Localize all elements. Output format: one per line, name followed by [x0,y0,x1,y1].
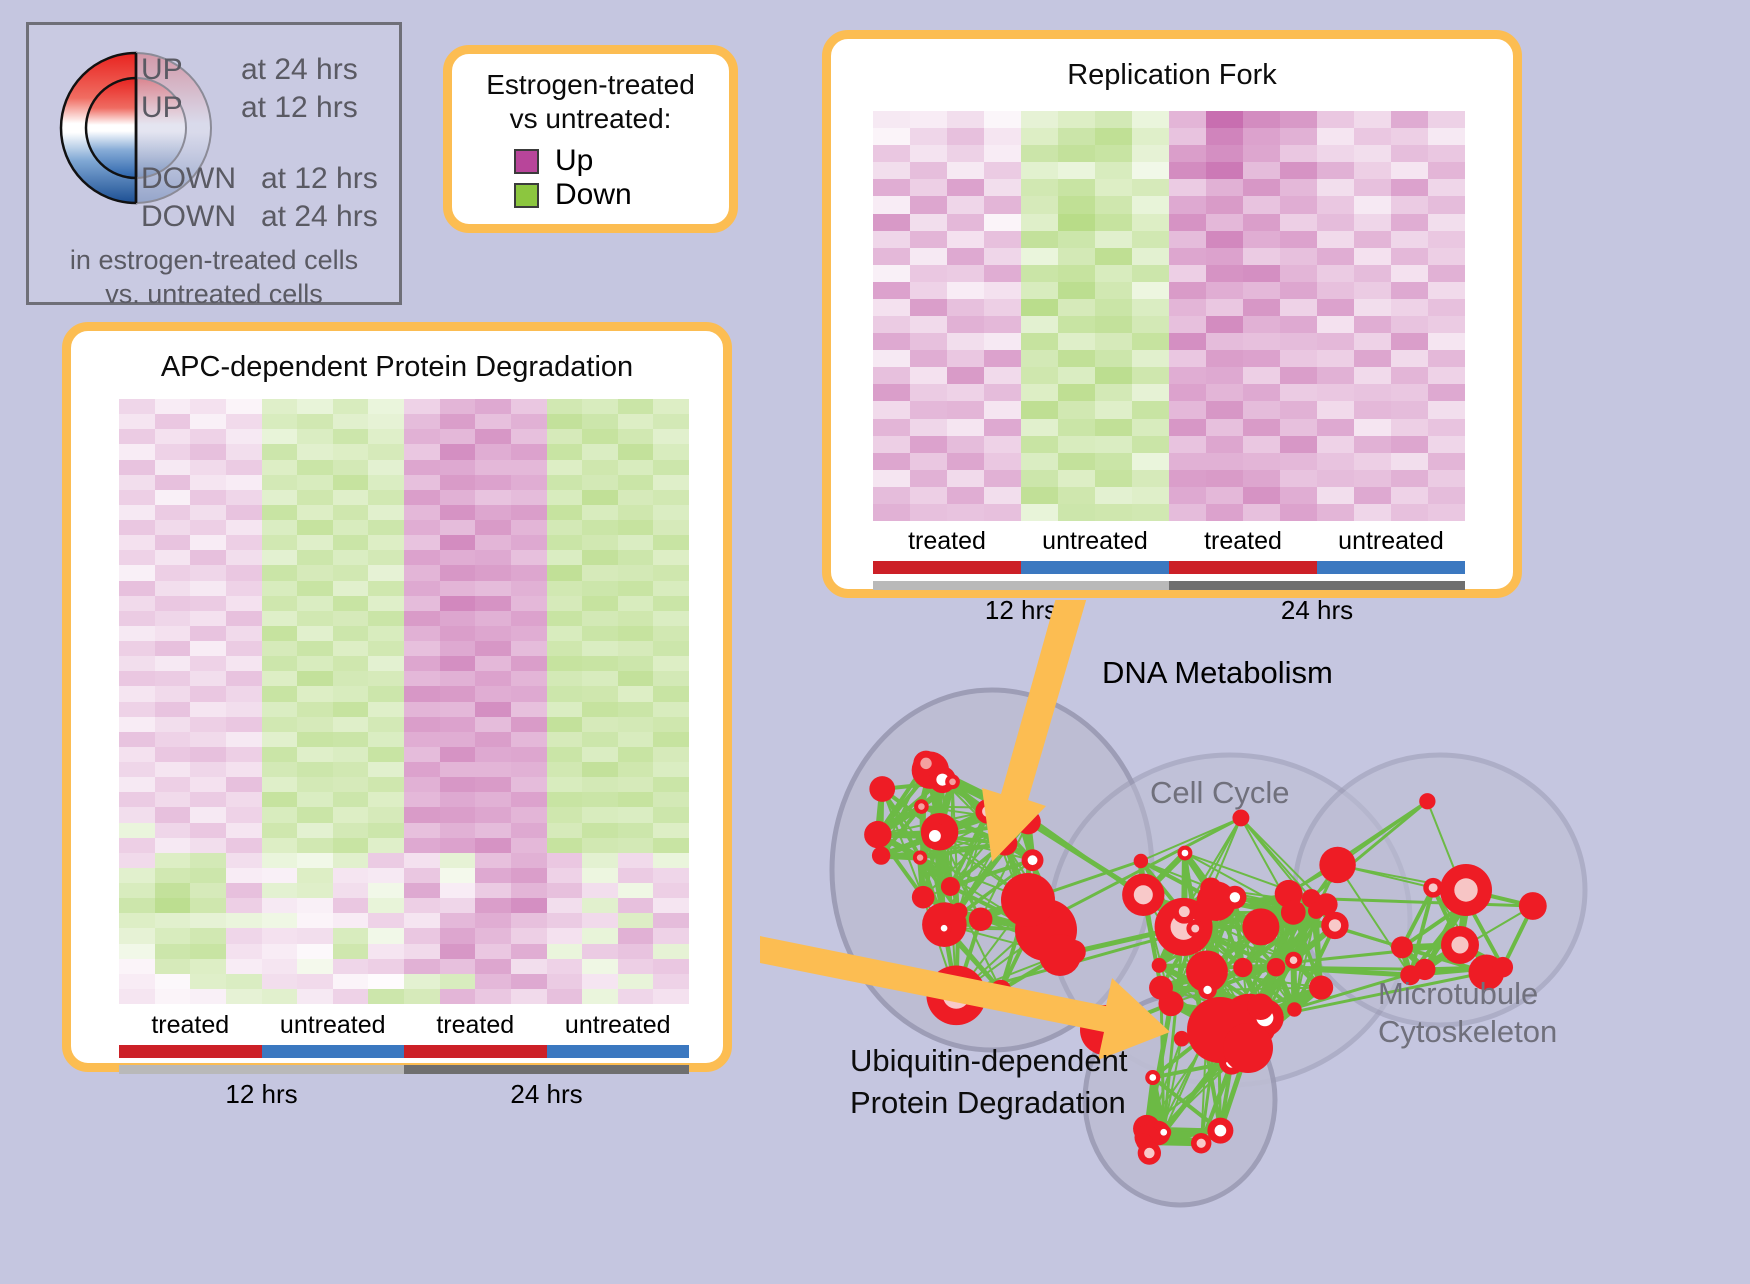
heatmap-cell [475,626,511,641]
replication-fork-heatmap [873,111,1465,521]
heatmap-cell [297,535,333,550]
heatmap-cell [618,883,654,898]
heatmap-cell [1169,350,1206,367]
network-node[interactable] [941,877,960,896]
heatmap-cell [155,535,191,550]
heatmap-cell [440,656,476,671]
network-node[interactable] [922,823,948,849]
heatmap-cell [368,792,404,807]
network-node[interactable] [1198,981,1216,999]
heatmap-cell [262,490,298,505]
network-node[interactable] [1138,1141,1161,1164]
heatmap-cell [511,641,547,656]
heatmap-cell [1391,248,1428,265]
heatmap-cell [333,581,369,596]
heatmap-cell [1243,145,1280,162]
heatmap-cell [873,487,910,504]
heatmap-cell [653,490,689,505]
heatmap-cell [582,641,618,656]
heatmap-cell [1428,145,1465,162]
heatmap-cell [618,807,654,822]
node-inner-core [918,803,925,810]
heatmap-cell [119,974,155,989]
heatmap-cell [155,550,191,565]
heatmap-cell [618,444,654,459]
heatmap-cell [984,299,1021,316]
network-node[interactable] [872,846,890,864]
heatmap-cell [947,316,984,333]
heatmap-cell [511,762,547,777]
network-node[interactable] [1391,936,1413,958]
heatmap-cell [440,777,476,792]
heatmap-cell [582,611,618,626]
heatmap-cell [984,196,1021,213]
heatmap-cell [440,520,476,535]
heatmap-cell [1169,214,1206,231]
heatmap-cell [440,913,476,928]
heatmap-cell [547,520,583,535]
network-node[interactable] [914,799,929,814]
network-node[interactable] [1519,892,1547,920]
heatmap-cell [547,792,583,807]
heatmap-cell [119,550,155,565]
heatmap-cell [618,717,654,732]
heatmap-cell [119,399,155,414]
heatmap-cell [582,777,618,792]
heatmap-cell [297,581,333,596]
heatmap-cell [119,944,155,959]
heatmap-cell [1169,504,1206,521]
heatmap-cell [119,792,155,807]
apc-time-bar [119,1065,689,1074]
heatmap-cell [1132,111,1169,128]
heatmap-cell [262,429,298,444]
heatmap-cell [297,792,333,807]
heatmap-cell [1169,316,1206,333]
node-outer-ring [1242,908,1279,945]
heatmap-cell [440,460,476,475]
replication-fork-treatment-bar [873,561,1465,574]
heatmap-cell [404,974,440,989]
network-node[interactable] [1319,847,1355,883]
network-node[interactable] [1287,1002,1302,1017]
time-bar-segment-0 [873,581,1169,590]
heatmap-cell [653,777,689,792]
heatmap-cell [1354,504,1391,521]
network-node[interactable] [913,850,927,864]
heatmap-cell [226,853,262,868]
heatmap-cell [119,565,155,580]
heatmap-cell [155,596,191,611]
heatmap-cell [262,732,298,747]
heatmap-cell [119,883,155,898]
heatmap-cell [333,596,369,611]
heatmap-cell [297,913,333,928]
ring-legend-footer-line1: in estrogen-treated cells [29,243,399,277]
network-node[interactable] [1149,976,1173,1000]
heatmap-cell [190,414,226,429]
heatmap-cell [297,565,333,580]
heatmap-cell [368,823,404,838]
direction-ring-legend: UP at 24 hrs UP at 12 hrs DOWN at 12 hrs… [26,22,402,305]
network-node[interactable] [1281,900,1306,925]
heatmap-cell [226,762,262,777]
heatmap-cell [440,414,476,429]
network-node[interactable] [1308,903,1324,919]
heatmap-cell [226,399,262,414]
heatmap-cell [226,565,262,580]
heatmap-cell [618,853,654,868]
heatmap-cell [1243,214,1280,231]
heatmap-cell [1132,367,1169,384]
heatmap-cell [440,505,476,520]
network-node[interactable] [1145,1070,1160,1085]
heatmap-cell [155,686,191,701]
heatmap-cell [368,883,404,898]
heatmap-cell [1317,504,1354,521]
heatmap-cell [333,944,369,959]
heatmap-cell [618,414,654,429]
heatmap-cell [653,641,689,656]
heatmap-cell [404,686,440,701]
network-node[interactable] [1022,849,1044,871]
cluster-label-microtubule-cytoskeleton: Microtubule Cytoskeleton [1378,975,1557,1051]
network-node[interactable] [950,903,968,921]
heatmap-cell [1058,231,1095,248]
node-outer-ring [941,877,960,896]
heatmap-cell [190,717,226,732]
heatmap-cell [547,565,583,580]
network-node[interactable] [864,821,891,848]
network-node[interactable] [1267,958,1285,976]
heatmap-cell [155,565,191,580]
heatmap-cell [226,777,262,792]
heatmap-cell [873,419,910,436]
network-node[interactable] [969,907,993,931]
heatmap-cell [190,762,226,777]
heatmap-cell [475,868,511,883]
heatmap-cell [190,520,226,535]
heatmap-cell [910,504,947,521]
heatmap-cell [984,231,1021,248]
heatmap-cell [297,807,333,822]
heatmap-cell [475,550,511,565]
heatmap-cell [1243,333,1280,350]
network-node[interactable] [945,774,960,789]
heatmap-cell [190,460,226,475]
heatmap-cell [1206,128,1243,145]
heatmap-cell [297,732,333,747]
heatmap-cell [947,162,984,179]
network-node[interactable] [1152,958,1167,973]
heatmap-cell [190,868,226,883]
heatmap-cell [1058,179,1095,196]
heatmap-cell [119,702,155,717]
heatmap-cell [511,732,547,747]
heatmap-cell [1280,333,1317,350]
heatmap-cell [984,248,1021,265]
heatmap-cell [368,807,404,822]
heatmap-cell [119,414,155,429]
heatmap-cell [1280,401,1317,418]
heatmap-cell [262,717,298,732]
heatmap-cell [297,444,333,459]
network-node[interactable] [1321,912,1348,939]
heatmap-cell [1058,162,1095,179]
network-node[interactable] [1191,1133,1211,1153]
heatmap-cell [440,444,476,459]
heatmap-cell [119,671,155,686]
heatmap-cell [947,111,984,128]
heatmap-cell [1354,384,1391,401]
heatmap-cell [475,641,511,656]
heatmap-cell [947,453,984,470]
heatmap-cell [155,656,191,671]
heatmap-cell [119,460,155,475]
network-node[interactable] [1309,976,1333,1000]
network-node[interactable] [1200,877,1222,899]
heatmap-cell [440,686,476,701]
heatmap-cell [262,414,298,429]
network-node[interactable] [1001,873,1055,927]
heatmap-cell [226,747,262,762]
heatmap-cell [155,823,191,838]
heatmap-cell [984,162,1021,179]
heatmap-cell [1317,248,1354,265]
heatmap-cell [1280,384,1317,401]
heatmap-cell [1243,111,1280,128]
heatmap-cell [910,384,947,401]
network-node[interactable] [1232,809,1249,826]
heatmap-cell [190,792,226,807]
heatmap-cell [1206,316,1243,333]
heatmap-cell [333,460,369,475]
network-node[interactable] [1233,958,1252,977]
heatmap-cell [582,883,618,898]
apc-degradation-panel: APC-dependent Protein Degradation treate… [62,322,732,1072]
network-node[interactable] [1223,886,1246,909]
heatmap-cell [262,611,298,626]
heatmap-cell [873,470,910,487]
heatmap-cell [1095,248,1132,265]
heatmap-cell [155,611,191,626]
heatmap-cell [1280,470,1317,487]
replication-fork-title: Replication Fork [831,59,1513,92]
heatmap-cell [404,777,440,792]
heatmap-cell [1021,111,1058,128]
heatmap-cell [226,913,262,928]
heatmap-cell [547,460,583,475]
heatmap-cell [475,777,511,792]
key-item-down: Down [514,178,729,212]
heatmap-cell [1021,214,1058,231]
heatmap-cell [1428,248,1465,265]
heatmap-cell [333,656,369,671]
heatmap-cell [1243,248,1280,265]
network-node[interactable] [937,921,952,936]
heatmap-cell [226,944,262,959]
heatmap-cell [119,626,155,641]
network-node[interactable] [1039,934,1081,976]
heatmap-cell [440,792,476,807]
heatmap-cell [190,535,226,550]
network-node[interactable] [1441,926,1479,964]
heatmap-cell [1058,128,1095,145]
heatmap-cell [404,732,440,747]
heatmap-cell [582,732,618,747]
heatmap-cell [475,747,511,762]
heatmap-cell [653,596,689,611]
heatmap-cell [404,581,440,596]
node-outer-ring [969,907,993,931]
heatmap-cell [368,550,404,565]
heatmap-cell [475,807,511,822]
heatmap-cell [984,282,1021,299]
heatmap-cell [653,853,689,868]
heatmap-cell [368,565,404,580]
heatmap-cell [873,162,910,179]
heatmap-cell [910,128,947,145]
network-node[interactable] [1419,793,1435,809]
heatmap-cell [547,717,583,732]
heatmap-cell [262,520,298,535]
network-node[interactable] [1440,864,1492,916]
heatmap-cell [618,611,654,626]
heatmap-cell [119,656,155,671]
heatmap-cell [297,883,333,898]
network-node[interactable] [1122,874,1164,916]
heatmap-cell [511,823,547,838]
node-outer-ring [1519,892,1547,920]
heatmap-cell [653,444,689,459]
heatmap-cell [1095,504,1132,521]
heatmap-cell [1095,436,1132,453]
heatmap-cell [511,883,547,898]
heatmap-cell [1354,128,1391,145]
heatmap-cell [1132,248,1169,265]
network-node[interactable] [869,776,895,802]
heatmap-cell [119,475,155,490]
heatmap-cell [226,868,262,883]
column-label-3: untreated [1317,527,1465,556]
heatmap-cell [653,626,689,641]
heatmap-cell [653,581,689,596]
heatmap-cell [1280,214,1317,231]
heatmap-cell [1280,196,1317,213]
heatmap-cell [155,883,191,898]
heatmap-cell [947,248,984,265]
heatmap-cell [262,928,298,943]
node-inner-core [1028,855,1038,865]
heatmap-cell [1169,436,1206,453]
heatmap-cell [119,898,155,913]
heatmap-cell [368,460,404,475]
node-inner-core [1230,892,1240,902]
heatmap-cell [475,460,511,475]
heatmap-cell [947,401,984,418]
heatmap-cell [582,535,618,550]
network-node[interactable] [1423,878,1443,898]
heatmap-cell [1095,214,1132,231]
heatmap-cell [1132,145,1169,162]
network-node[interactable] [1223,1023,1273,1073]
heatmap-cell [1354,214,1391,231]
heatmap-cell [582,702,618,717]
heatmap-cell [262,747,298,762]
network-node[interactable] [1177,846,1192,861]
heatmap-cell [190,838,226,853]
heatmap-cell [1428,231,1465,248]
treatment-bar-segment-3 [547,1045,690,1058]
heatmap-cell [547,777,583,792]
heatmap-cell [475,717,511,732]
heatmap-cell [190,641,226,656]
network-node[interactable] [1247,994,1273,1020]
heatmap-cell [368,762,404,777]
heatmap-cell [1354,470,1391,487]
heatmap-cell [475,565,511,580]
heatmap-cell [440,732,476,747]
heatmap-cell [262,550,298,565]
heatmap-cell [155,898,191,913]
heatmap-cell [368,414,404,429]
heatmap-cell [1021,453,1058,470]
heatmap-cell [547,641,583,656]
heatmap-cell [1354,179,1391,196]
network-node[interactable] [1134,854,1148,868]
heatmap-cell [1132,214,1169,231]
heatmap-cell [511,550,547,565]
heatmap-cell [155,641,191,656]
heatmap-cell [475,823,511,838]
heatmap-cell [1058,504,1095,521]
heatmap-cell [226,611,262,626]
heatmap-cell [440,747,476,762]
heatmap-cell [226,475,262,490]
heatmap-cell [119,777,155,792]
heatmap-cell [119,581,155,596]
heatmap-cell [333,505,369,520]
heatmap-cell [155,838,191,853]
network-node[interactable] [1186,920,1204,938]
network-node[interactable] [1242,908,1279,945]
heatmap-cell [226,671,262,686]
heatmap-cell [262,792,298,807]
network-node[interactable] [912,886,935,909]
heatmap-cell [1058,196,1095,213]
heatmap-cell [1058,350,1095,367]
network-node[interactable] [1285,952,1302,969]
heatmap-cell [947,299,984,316]
heatmap-cell [226,702,262,717]
heatmap-cell [653,974,689,989]
network-node[interactable] [1207,1118,1233,1144]
heatmap-cell [582,838,618,853]
heatmap-cell [333,898,369,913]
heatmap-cell [1095,401,1132,418]
heatmap-cell [1280,282,1317,299]
heatmap-cell [1317,128,1354,145]
heatmap-cell [440,898,476,913]
heatmap-cell [333,414,369,429]
network-node[interactable] [1174,1031,1190,1047]
network-node[interactable] [1172,900,1196,924]
heatmap-cell [475,490,511,505]
apc-heatmap [119,399,689,1004]
heatmap-cell [226,550,262,565]
heatmap-cell [547,868,583,883]
heatmap-cell [910,162,947,179]
